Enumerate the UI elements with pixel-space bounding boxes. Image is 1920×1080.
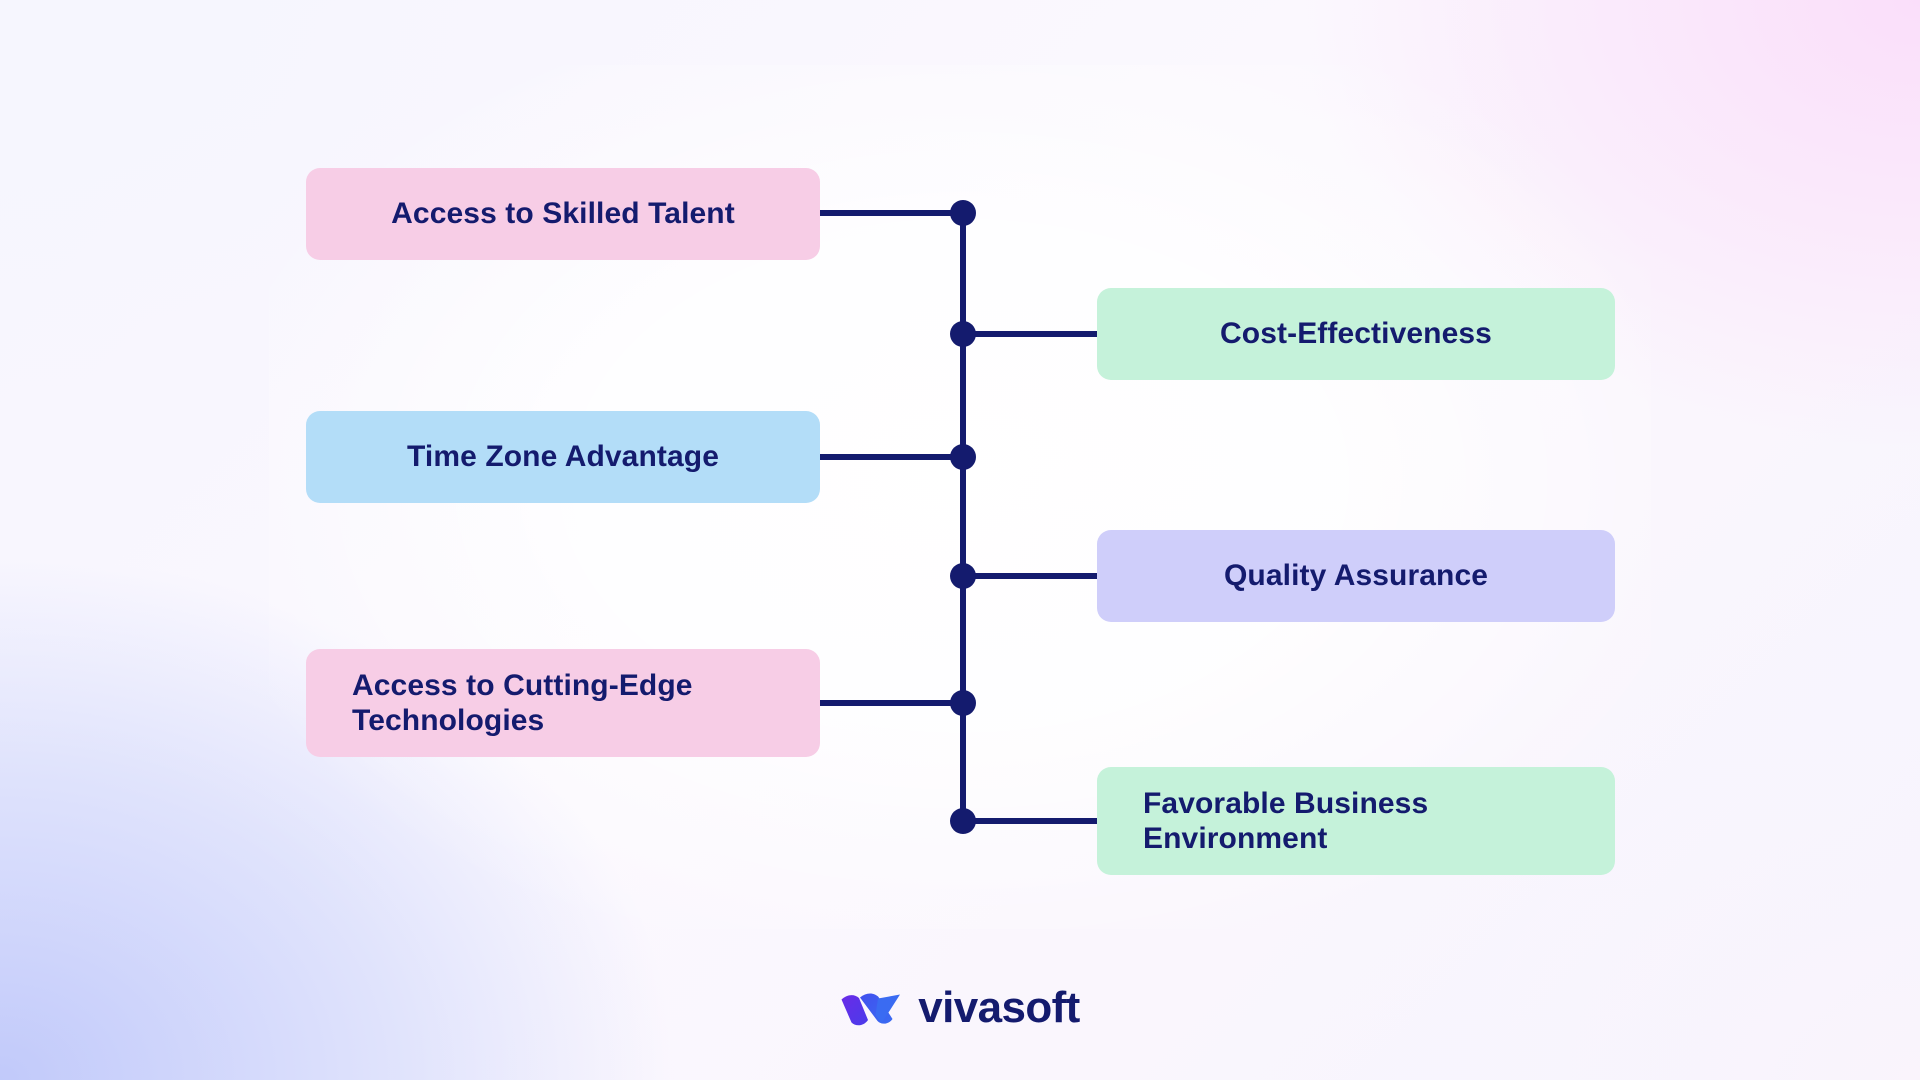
brand-footer: vivasoft: [0, 986, 1920, 1030]
node-box-quality-assurance[interactable]: Quality Assurance: [1097, 530, 1615, 622]
node-box-access-to-cutting-edge-technologies[interactable]: Access to Cutting-Edge Technologies: [306, 649, 820, 757]
node-box-cost-effectiveness[interactable]: Cost-Effectiveness: [1097, 288, 1615, 380]
node-label: Cost-Effectiveness: [1220, 316, 1492, 351]
benefits-diagram: Access to Skilled Talent Cost-Effectiven…: [0, 0, 1920, 1080]
node-box-time-zone-advantage[interactable]: Time Zone Advantage: [306, 411, 820, 503]
vivasoft-wave-logo-icon: [840, 986, 902, 1030]
connector-lines: [0, 0, 1920, 1080]
node-label: Quality Assurance: [1224, 558, 1488, 593]
brand-wordmark: vivasoft: [918, 986, 1080, 1030]
node-box-access-to-skilled-talent[interactable]: Access to Skilled Talent: [306, 168, 820, 260]
node-label: Access to Skilled Talent: [391, 196, 735, 231]
node-label: Favorable Business Environment: [1143, 786, 1428, 857]
node-label: Time Zone Advantage: [407, 439, 719, 474]
node-box-favorable-business-environment[interactable]: Favorable Business Environment: [1097, 767, 1615, 875]
node-label: Access to Cutting-Edge Technologies: [352, 668, 693, 739]
